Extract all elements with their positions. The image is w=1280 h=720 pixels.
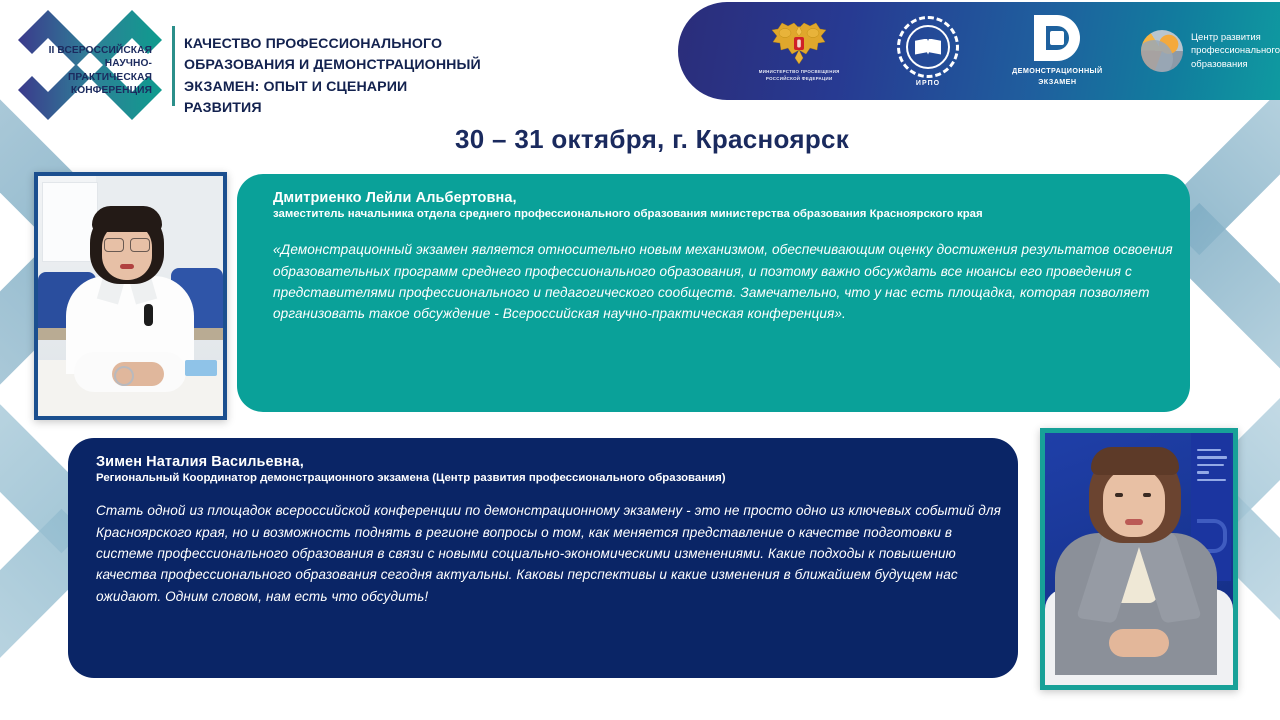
conference-title: КАЧЕСТВО ПРОФЕССИОНАЛЬНОГО ОБРАЗОВАНИЯ И… bbox=[184, 34, 484, 119]
speaker-card-1: Дмитриенко Лейли Альбертовна, заместител… bbox=[237, 174, 1190, 412]
irpo-emblem-icon bbox=[897, 16, 959, 78]
partner-banner: МИНИСТЕРСТВО ПРОСВЕЩЕНИЯ РОССИЙСКОЙ ФЕДЕ… bbox=[678, 2, 1280, 100]
partner-caption-demexam: ДЕМОНСТРАЦИОННЫЙ ЭКЗАМЕН bbox=[1008, 66, 1107, 88]
conference-logo-line-3: КОНФЕРЕНЦИЯ bbox=[32, 84, 152, 97]
date-location: 30 – 31 октября, г. Красноярск bbox=[455, 124, 849, 155]
partner-caption-irpo: ИРПО bbox=[916, 80, 940, 87]
demonstration-exam-icon bbox=[1034, 15, 1080, 61]
speaker-1-photo: Портрет Дмитриенко Лейли Альбертовны bbox=[34, 172, 227, 420]
conference-logo: II ВСЕРОССИЙСКАЯ НАУЧНО-ПРАКТИЧЕСКАЯ КОН… bbox=[14, 4, 484, 126]
crpo-sphere-icon bbox=[1141, 30, 1183, 72]
conference-logo-lines: II ВСЕРОССИЙСКАЯ НАУЧНО-ПРАКТИЧЕСКАЯ КОН… bbox=[32, 44, 152, 98]
partner-logo-minprosveshcheniya: МИНИСТЕРСТВО ПРОСВЕЩЕНИЯ РОССИЙСКОЙ ФЕДЕ… bbox=[744, 20, 854, 82]
partner-logo-demexam: ДЕМОНСТРАЦИОННЫЙ ЭКЗАМЕН bbox=[1008, 15, 1107, 88]
double-headed-eagle-icon bbox=[768, 20, 830, 66]
speaker-2-name: Зимен Наталия Васильевна, bbox=[96, 454, 1006, 470]
speaker-2-quote: Стать одной из площадок всероссийской ко… bbox=[96, 500, 1006, 607]
speaker-2-photo: Портрет Зимен Наталии Васильевны bbox=[1040, 428, 1238, 690]
speaker-card-2: Зимен Наталия Васильевна, Региональный К… bbox=[68, 438, 1018, 678]
conference-logo-line-2: НАУЧНО-ПРАКТИЧЕСКАЯ bbox=[32, 57, 152, 84]
slide-canvas: МИНИСТЕРСТВО ПРОСВЕЩЕНИЯ РОССИЙСКОЙ ФЕДЕ… bbox=[0, 0, 1280, 720]
speaker-1-quote: «Демонстрационный экзамен является относ… bbox=[273, 239, 1176, 324]
conference-logo-line-1: II ВСЕРОССИЙСКАЯ bbox=[32, 44, 152, 57]
partner-logo-crpo: Центр развития профессионального образов… bbox=[1141, 30, 1280, 72]
speaker-2-role: Региональный Координатор демонстрационно… bbox=[96, 470, 1006, 487]
logo-divider bbox=[172, 26, 175, 106]
partner-caption-crpo: Центр развития профессионального образов… bbox=[1191, 31, 1280, 70]
partner-logo-irpo: ИРПО bbox=[878, 16, 977, 87]
partner-caption-minprosveshcheniya: МИНИСТЕРСТВО ПРОСВЕЩЕНИЯ РОССИЙСКОЙ ФЕДЕ… bbox=[744, 69, 854, 82]
speaker-1-role: заместитель начальника отдела среднего п… bbox=[273, 206, 1176, 223]
speaker-1-name: Дмитриенко Лейли Альбертовна, bbox=[273, 190, 1176, 206]
